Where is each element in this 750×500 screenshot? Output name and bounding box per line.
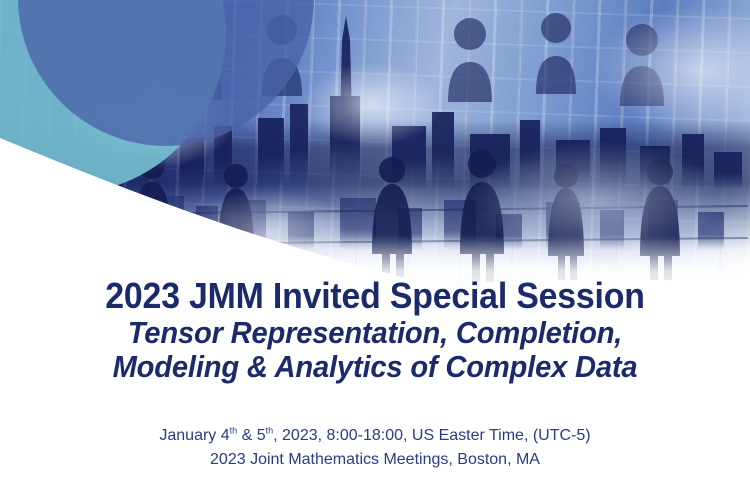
date-ordinal-second: th [266,426,274,436]
page-subtitle-line-1: Tensor Representation, Completion, [23,316,728,350]
hero-banner [0,0,750,300]
date-middle: & 5 [237,427,265,444]
page-title: 2023 JMM Invited Special Session [23,276,728,316]
date-suffix: , 2023, 8:00-18:00, US Easter Time, (UTC… [273,427,590,444]
poster-root: 2023 JMM Invited Special Session Tensor … [0,0,750,500]
title-block: 2023 JMM Invited Special Session Tensor … [0,276,750,384]
date-prefix: January 4 [159,427,229,444]
event-details-block: January 4th & 5th, 2023, 8:00-18:00, US … [0,424,750,472]
event-venue-line: 2023 Joint Mathematics Meetings, Boston,… [0,448,750,472]
page-subtitle-line-2: Modeling & Analytics of Complex Data [23,350,728,384]
event-date-time-line: January 4th & 5th, 2023, 8:00-18:00, US … [0,424,750,448]
